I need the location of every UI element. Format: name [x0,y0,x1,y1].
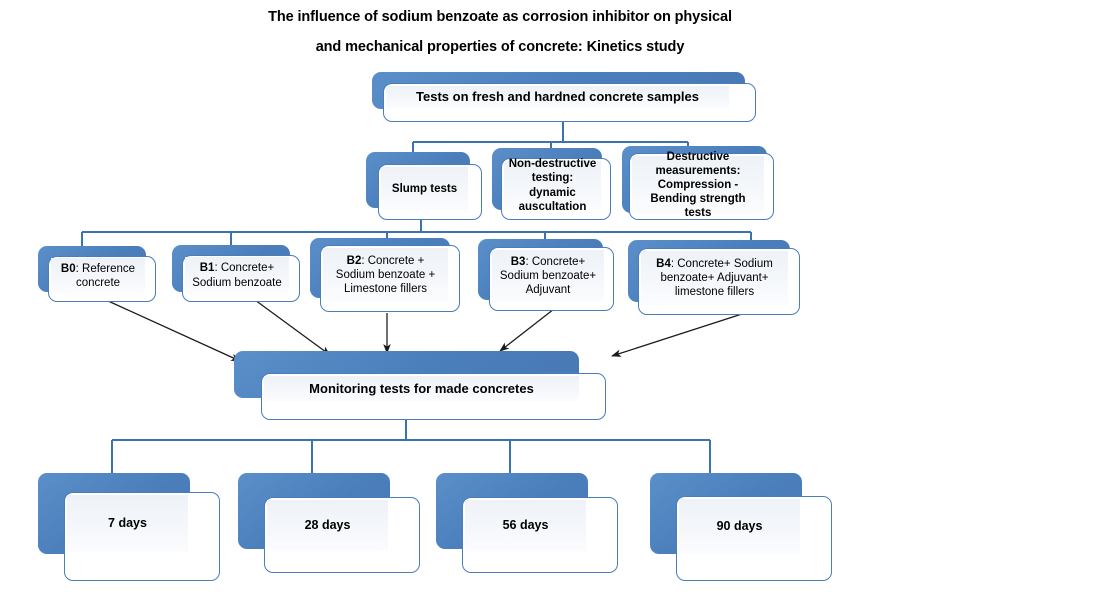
node-d28[interactable]: 28 days [238,473,420,573]
node-destructive-fill: Destructive measurements: Compression - … [632,156,764,214]
node-b0-label: B0: Reference concrete [51,262,145,290]
node-root[interactable]: Tests on fresh and hardned concrete samp… [372,72,756,122]
node-monitoring-label: Monitoring tests for made concretes [305,381,538,397]
node-root-label: Tests on fresh and hardned concrete samp… [412,89,703,105]
flowchart-canvas: The influence of sodium benzoate as corr… [0,0,1110,600]
node-b2[interactable]: B2: Concrete + Sodium benzoate + Limesto… [310,238,460,312]
node-b0-code: B0 [61,263,76,275]
node-b1-label: B1: Concrete+ Sodium benzoate [185,261,289,289]
node-root-fill: Tests on fresh and hardned concrete samp… [386,86,729,108]
node-d90-label: 90 days [713,519,767,534]
node-b3-label: B3: Concrete+ Sodium benzoate+ Adjuvant [492,255,604,297]
node-b2-fill: B2: Concrete + Sodium benzoate + Limesto… [323,248,448,302]
node-b3-fill: B3: Concrete+ Sodium benzoate+ Adjuvant [492,250,604,302]
diagram-title-line-1: The influence of sodium benzoate as corr… [0,9,1000,26]
node-monitoring-fill: Monitoring tests for made concretes [264,376,579,401]
node-b1-code: B1 [200,262,215,274]
node-d28-fill: 28 days [267,500,388,551]
node-slump-label: Slump tests [388,182,461,196]
node-b1[interactable]: B1: Concrete+ Sodium benzoate [172,245,300,302]
node-b3-code: B3 [511,256,526,268]
node-d90[interactable]: 90 days [650,473,832,581]
node-d90-fill: 90 days [679,499,800,554]
node-b2-label: B2: Concrete + Sodium benzoate + Limesto… [323,254,448,296]
node-b0-fill: B0: Reference concrete [51,258,145,294]
node-b1-fill: B1: Concrete+ Sodium benzoate [185,257,289,294]
node-d28-label: 28 days [301,518,355,533]
node-b4-fill: B4: Concrete+ Sodium benzoate+ Adjuvant+… [641,251,788,305]
node-non-destructive-fill: Non-destructive testing: dynamic auscult… [504,161,601,210]
node-b3[interactable]: B3: Concrete+ Sodium benzoate+ Adjuvant [478,239,614,311]
node-slump[interactable]: Slump tests [366,152,482,220]
node-d56-label: 56 days [499,518,553,533]
node-d7-fill: 7 days [67,495,188,552]
node-b4-desc: : Concrete+ Sodium benzoate+ Adjuvant+ l… [660,258,772,298]
node-d56-fill: 56 days [465,500,586,551]
node-b4-code: B4 [656,258,671,270]
node-destructive-label: Destructive measurements: Compression - … [632,150,764,220]
node-d7-label: 7 days [104,516,151,531]
node-non-destructive-label: Non-destructive testing: dynamic auscult… [504,157,601,213]
node-b4[interactable]: B4: Concrete+ Sodium benzoate+ Adjuvant+… [628,240,800,315]
node-slump-fill: Slump tests [381,167,468,211]
node-monitoring[interactable]: Monitoring tests for made concretes [234,351,606,420]
node-destructive[interactable]: Destructive measurements: Compression - … [622,146,774,220]
node-b0[interactable]: B0: Reference concrete [38,246,156,302]
node-d7[interactable]: 7 days [38,473,220,581]
node-non-destructive[interactable]: Non-destructive testing: dynamic auscult… [492,148,611,220]
node-b0-desc: : Reference concrete [76,263,135,289]
node-b2-code: B2 [347,255,362,267]
node-d56[interactable]: 56 days [436,473,618,573]
node-b4-label: B4: Concrete+ Sodium benzoate+ Adjuvant+… [641,257,788,299]
diagram-title-line-2: and mechanical properties of concrete: K… [0,39,1000,56]
